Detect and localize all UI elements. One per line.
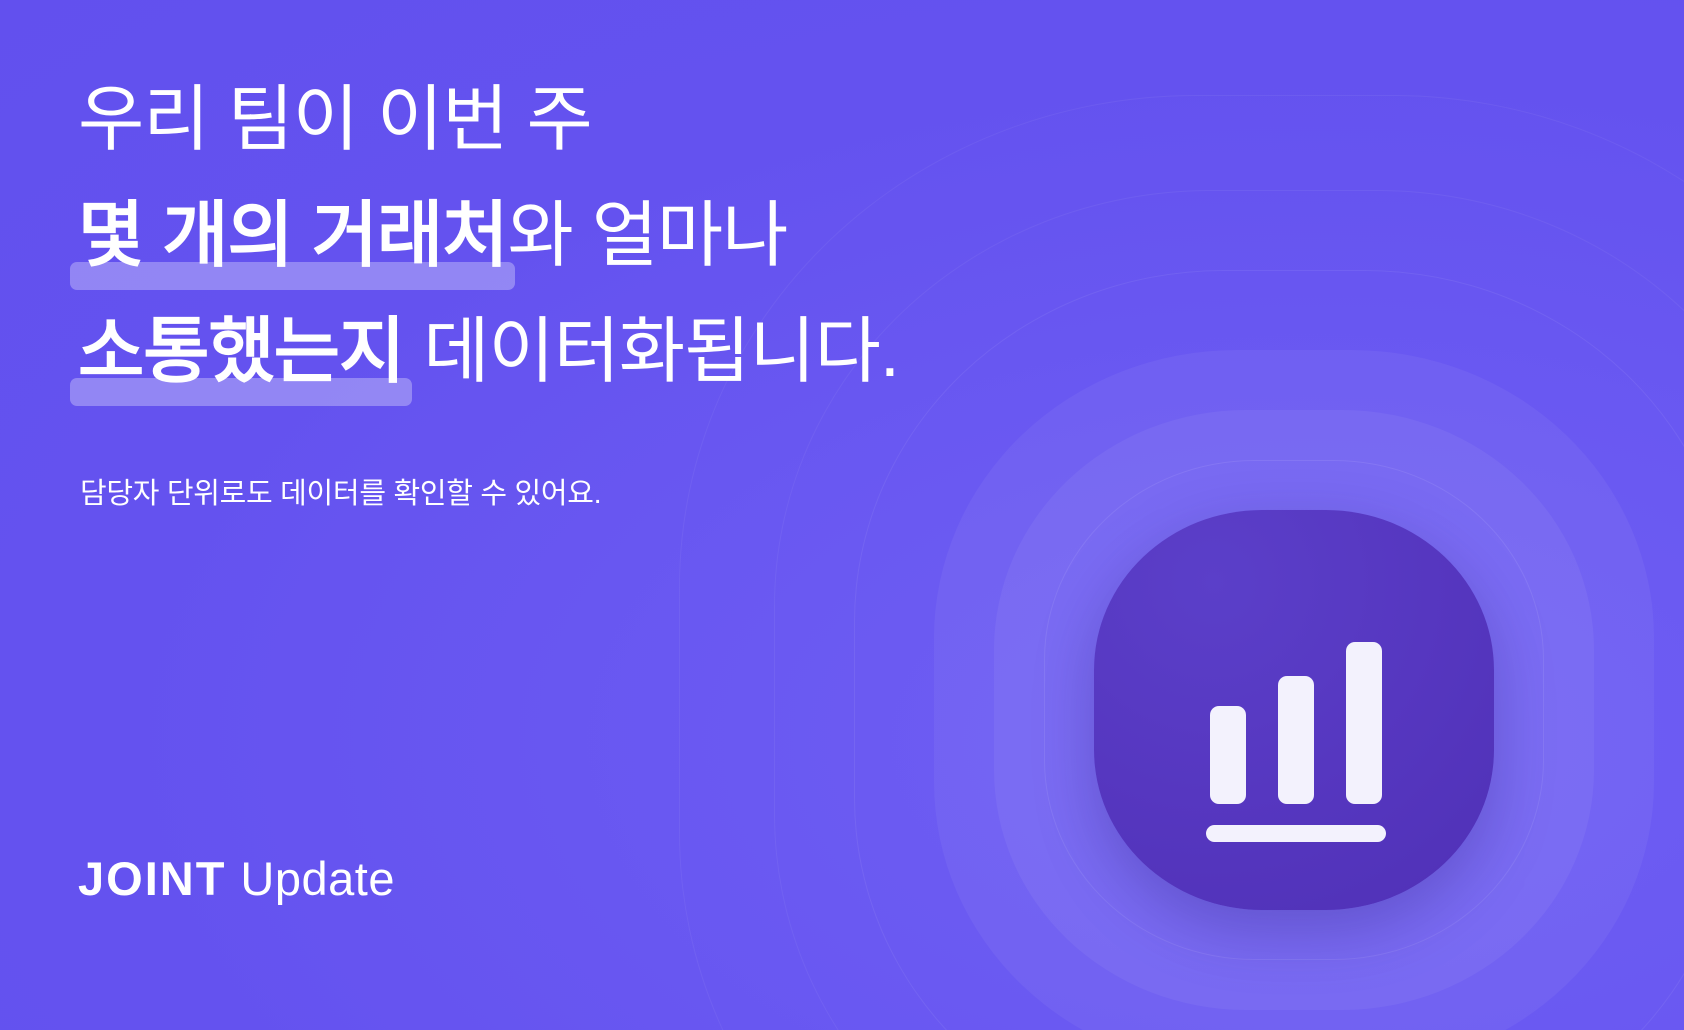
headline-line-1-text: 우리 팀이 이번 주 — [78, 80, 592, 160]
headline-highlight-1: 몇 개의 거래처 — [78, 178, 507, 294]
bar-chart-baseline — [1206, 825, 1386, 842]
promo-banner: 우리 팀이 이번 주 몇 개의 거래처와 얼마나 소통했는지 데이터화됩니다. … — [0, 0, 1684, 1030]
subtitle: 담당자 단위로도 데이터를 확인할 수 있어요. — [80, 470, 601, 512]
bar-chart-bar-1 — [1210, 706, 1246, 804]
headline-line-2: 몇 개의 거래처와 얼마나 — [78, 178, 1058, 294]
headline-highlight-2: 소통했는지 — [78, 294, 404, 410]
headline-line-3-rest: 데이터화됩니다. — [404, 312, 899, 392]
brand-logo: JOINTUpdate — [78, 851, 395, 906]
bar-chart-bar-2 — [1278, 676, 1314, 804]
brand-logo-suffix: Update — [240, 852, 395, 905]
bar-chart-icon — [1210, 660, 1396, 842]
headline: 우리 팀이 이번 주 몇 개의 거래처와 얼마나 소통했는지 데이터화됩니다. — [78, 62, 1058, 410]
headline-line-3: 소통했는지 데이터화됩니다. — [78, 294, 1058, 410]
content-column: 우리 팀이 이번 주 몇 개의 거래처와 얼마나 소통했는지 데이터화됩니다. … — [78, 0, 1078, 1030]
brand-logo-mark: JOINT — [78, 852, 226, 905]
app-icon-tile — [1094, 510, 1494, 910]
headline-line-1: 우리 팀이 이번 주 — [78, 62, 1058, 178]
bar-chart-bar-3 — [1346, 642, 1382, 804]
headline-line-2-rest: 와 얼마나 — [507, 196, 787, 276]
